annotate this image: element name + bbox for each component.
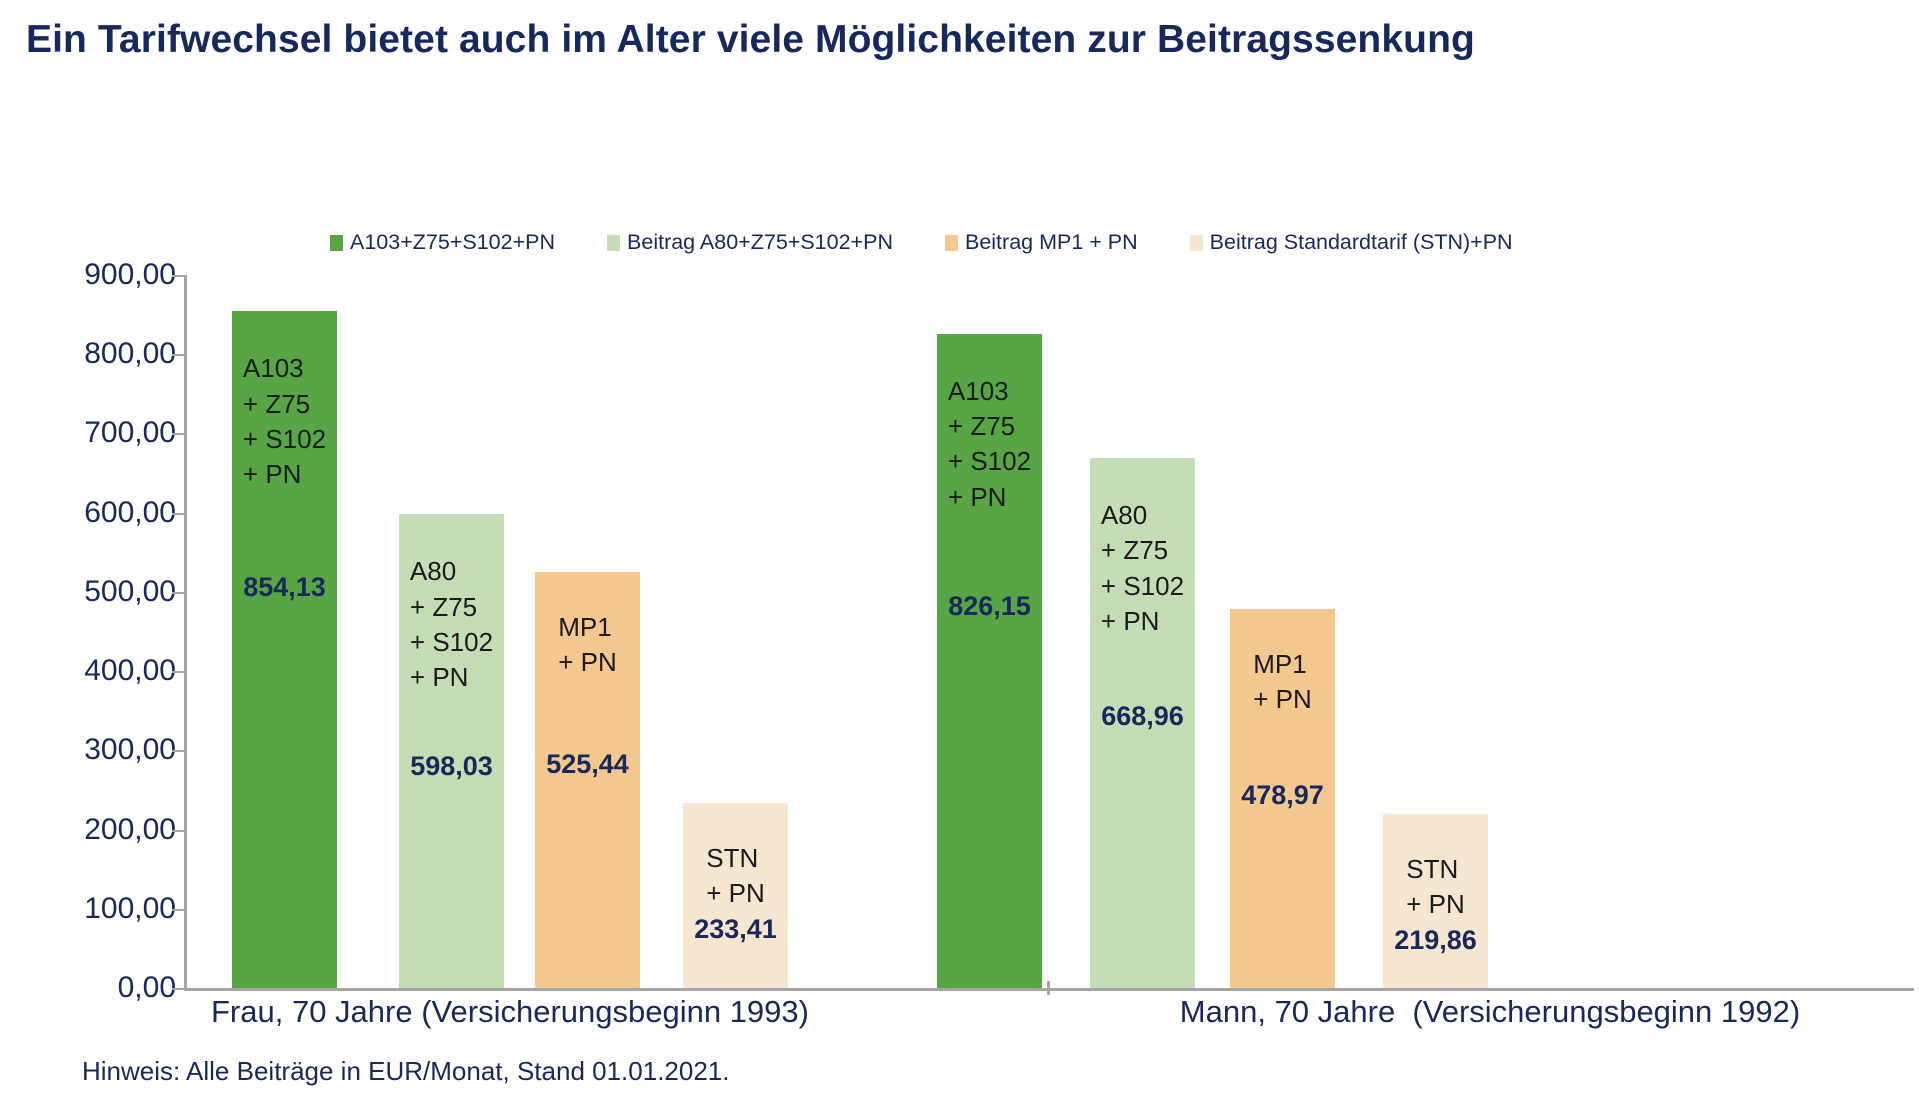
bar[interactable]: A80 + Z75 + S102 + PN668,96 <box>1090 458 1195 988</box>
y-axis-tick-label: 900,00 <box>0 260 176 290</box>
y-axis-tick-mark <box>172 909 185 911</box>
legend-item-stn[interactable]: Beitrag Standardtarif (STN)+PN <box>1190 232 1513 254</box>
legend-item-label: Beitrag Standardtarif (STN)+PN <box>1210 232 1513 254</box>
x-axis-category-label: Mann, 70 Jahre (Versicherungsbeginn 1992… <box>1090 996 1890 1027</box>
bar-value-label: 219,86 <box>1394 927 1477 954</box>
chart-legend: A103+Z75+S102+PN Beitrag A80+Z75+S102+PN… <box>330 232 1513 254</box>
bar-value-label: 854,13 <box>243 574 326 601</box>
legend-swatch-icon <box>330 235 343 251</box>
y-axis-tick-label: 500,00 <box>0 577 176 607</box>
y-axis: 900,00800,00700,00600,00500,00400,00300,… <box>0 275 176 990</box>
legend-swatch-icon <box>1190 235 1203 251</box>
legend-item-a80[interactable]: Beitrag A80+Z75+S102+PN <box>607 232 893 254</box>
y-axis-tick-label: 800,00 <box>0 339 176 369</box>
bar-value-label: 233,41 <box>694 916 777 943</box>
y-axis-tick-label: 100,00 <box>0 894 176 924</box>
y-axis-tick-mark <box>172 592 185 594</box>
y-axis-tick-mark <box>172 513 185 515</box>
y-axis-tick-mark <box>172 830 185 832</box>
bar-value-label: 598,03 <box>410 753 493 780</box>
bar[interactable]: STN + PN233,41 <box>683 803 788 988</box>
legend-item-label: Beitrag MP1 + PN <box>965 232 1138 254</box>
legend-item-a103[interactable]: A103+Z75+S102+PN <box>330 232 555 254</box>
footnote: Hinweis: Alle Beiträge in EUR/Monat, Sta… <box>82 1058 730 1084</box>
bar-label: A103 + Z75 + S102 + PN <box>948 374 1031 515</box>
x-axis-category-label: Frau, 70 Jahre (Versicherungsbeginn 1993… <box>110 996 910 1027</box>
bar-label: STN + PN <box>706 841 765 912</box>
y-axis-tick-label: 400,00 <box>0 656 176 686</box>
plot-area: A103 + Z75 + S102 + PN854,13A80 + Z75 + … <box>187 275 1914 988</box>
bar-value-label: 478,97 <box>1241 782 1324 809</box>
y-axis-tick-label: 200,00 <box>0 815 176 845</box>
y-axis-tick-label: 700,00 <box>0 418 176 448</box>
bar[interactable]: A103 + Z75 + S102 + PN826,15 <box>937 334 1042 988</box>
bar-label: MP1 + PN <box>1253 647 1312 718</box>
y-axis-tick-mark <box>172 750 185 752</box>
bar-label: MP1 + PN <box>558 610 617 681</box>
bar-label: A103 + Z75 + S102 + PN <box>243 351 326 492</box>
bar-value-label: 668,96 <box>1101 703 1184 730</box>
legend-swatch-icon <box>607 235 620 251</box>
legend-item-mp1[interactable]: Beitrag MP1 + PN <box>945 232 1138 254</box>
bar-label: A80 + Z75 + S102 + PN <box>1101 498 1184 639</box>
bar[interactable]: A80 + Z75 + S102 + PN598,03 <box>399 514 504 988</box>
x-axis-category-labels: Frau, 70 Jahre (Versicherungsbeginn 1993… <box>0 996 1919 1040</box>
bar-chart: 900,00800,00700,00600,00500,00400,00300,… <box>0 275 1919 990</box>
bar-value-label: 826,15 <box>948 593 1031 620</box>
y-axis-tick-mark <box>172 988 185 990</box>
y-axis-tick-mark <box>172 671 185 673</box>
y-axis-tick-label: 300,00 <box>0 735 176 765</box>
legend-swatch-icon <box>945 235 958 251</box>
legend-item-label: A103+Z75+S102+PN <box>350 232 555 254</box>
bar-label: STN + PN <box>1406 852 1465 923</box>
bar[interactable]: STN + PN219,86 <box>1383 814 1488 988</box>
bar-label: A80 + Z75 + S102 + PN <box>410 554 493 695</box>
bar[interactable]: MP1 + PN478,97 <box>1230 609 1335 988</box>
bar[interactable]: A103 + Z75 + S102 + PN854,13 <box>232 311 337 988</box>
page-title: Ein Tarifwechsel bietet auch im Alter vi… <box>26 14 1666 66</box>
legend-item-label: Beitrag A80+Z75+S102+PN <box>627 232 893 254</box>
y-axis-tick-mark <box>172 275 185 277</box>
y-axis-tick-label: 600,00 <box>0 498 176 528</box>
bar[interactable]: MP1 + PN525,44 <box>535 572 640 988</box>
bar-value-label: 525,44 <box>546 751 629 778</box>
y-axis-tick-mark <box>172 354 185 356</box>
y-axis-tick-mark <box>172 433 185 435</box>
